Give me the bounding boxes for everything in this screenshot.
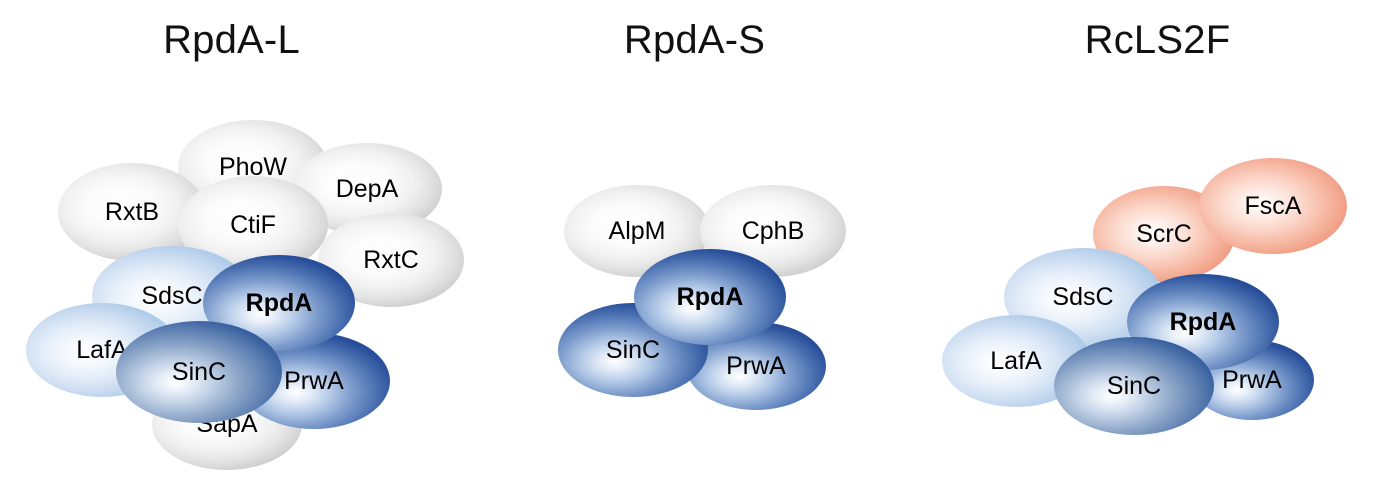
panel-rcls2f: RcLS2FFscAScrCSdsCLafARpdASinCPrwA <box>926 0 1389 500</box>
complex-rcls2f: FscAScrCSdsCLafARpdASinCPrwA <box>926 0 1389 500</box>
complex-rpda-l: PhoWRxtBDepACtiFRxtCSapASdsCLafARpdASinC… <box>0 0 463 500</box>
protein-label-prwa: PrwA <box>726 354 786 379</box>
protein-label-rpda: RpdA <box>677 285 744 310</box>
protein-label-lafa: LafA <box>990 349 1041 374</box>
protein-label-ctif: CtiF <box>230 213 276 238</box>
protein-label-depa: DepA <box>336 177 399 202</box>
panel-rpda-l: RpdA-LPhoWRxtBDepACtiFRxtCSapASdsCLafARp… <box>0 0 463 500</box>
protein-label-sinc: SinC <box>172 360 226 385</box>
protein-label-scrc: ScrC <box>1136 222 1192 247</box>
protein-label-prwa: PrwA <box>284 369 344 394</box>
protein-label-rpda: RpdA <box>246 291 313 316</box>
protein-label-sdsc: SdsC <box>1052 285 1113 310</box>
protein-node-sinc[interactable]: SinC <box>116 321 282 423</box>
protein-label-rxtb: RxtB <box>105 200 159 225</box>
protein-label-prwa: PrwA <box>1222 368 1282 393</box>
protein-node-rpda[interactable]: RpdA <box>634 249 786 345</box>
protein-label-rxtc: RxtC <box>363 248 419 273</box>
protein-label-rpda: RpdA <box>1170 310 1237 335</box>
protein-label-cphb: CphB <box>742 219 805 244</box>
protein-complex-figure: RpdA-LPhoWRxtBDepACtiFRxtCSapASdsCLafARp… <box>0 0 1389 500</box>
protein-label-sdsc: SdsC <box>141 284 202 309</box>
protein-node-fsca[interactable]: FscA <box>1199 158 1347 254</box>
panel-rpda-s: RpdA-SAlpMCphBSinCPrwARpdA <box>463 0 926 500</box>
protein-label-alpm: AlpM <box>609 219 666 244</box>
protein-label-sinc: SinC <box>1107 374 1161 399</box>
protein-label-fsca: FscA <box>1245 194 1302 219</box>
protein-node-sinc[interactable]: SinC <box>1054 337 1214 435</box>
complex-rpda-s: AlpMCphBSinCPrwARpdA <box>463 0 926 500</box>
protein-label-sinc: SinC <box>606 338 660 363</box>
